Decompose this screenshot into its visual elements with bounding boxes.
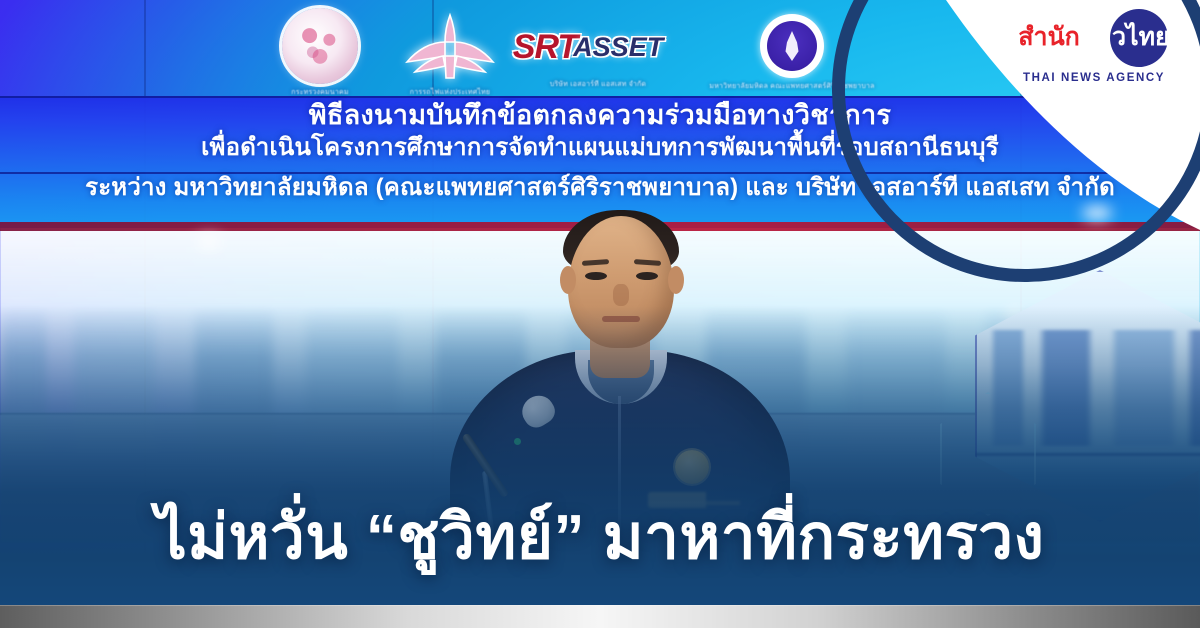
ministry-seal-icon	[282, 8, 358, 84]
speaker-ear	[668, 266, 684, 294]
speaker-eye	[636, 272, 658, 280]
srt-asset-logo: SRTASSET บริษัท เอสอาร์ที แอสเสท จำกัด	[498, 18, 698, 90]
srt-asset-text: ASSET	[573, 32, 663, 63]
mahidol-emblem-shape	[783, 31, 801, 61]
srt-mark-text: SRT	[513, 28, 577, 67]
tna-thai-red-text: สำนัก	[1018, 25, 1080, 50]
headline-text: ไม่หวั่น “ชูวิทย์” มาหาที่กระทรวง	[0, 505, 1200, 572]
mahidol-seal-inner	[767, 21, 817, 71]
speaker-nose	[613, 284, 629, 306]
speaker-eye	[585, 272, 607, 280]
tna-thai-white-text: ข่าวไทย	[1081, 25, 1170, 50]
bottom-silver-strip	[0, 605, 1200, 628]
garuda-wing-icon	[405, 12, 495, 84]
wall-glare	[196, 236, 222, 248]
state-railway-caption: การรถไฟแห่งประเทศไทย	[390, 87, 510, 98]
ministry-seal-logo: กระทรวงคมนาคม	[268, 8, 372, 98]
news-card: กระทรวงคมนาคม การรถไฟ	[0, 0, 1200, 628]
state-railway-garuda-logo: การรถไฟแห่งประเทศไทย	[390, 12, 510, 98]
srt-asset-caption: บริษัท เอสอาร์ที แอสเสท จำกัด	[498, 79, 698, 90]
srt-asset-wordmark-icon: SRTASSET	[498, 18, 678, 76]
speaker-ear	[560, 266, 576, 294]
tna-english-text: THAI NEWS AGENCY	[1023, 72, 1165, 84]
thai-news-agency-logo: สำนัก ข่าวไทย THAI NEWS AGENCY	[1006, 6, 1182, 98]
tna-wordmark: สำนัก ข่าวไทย	[1018, 6, 1169, 68]
mahidol-seal-icon	[760, 14, 824, 78]
ministry-seal-caption: กระทรวงคมนาคม	[268, 87, 372, 98]
